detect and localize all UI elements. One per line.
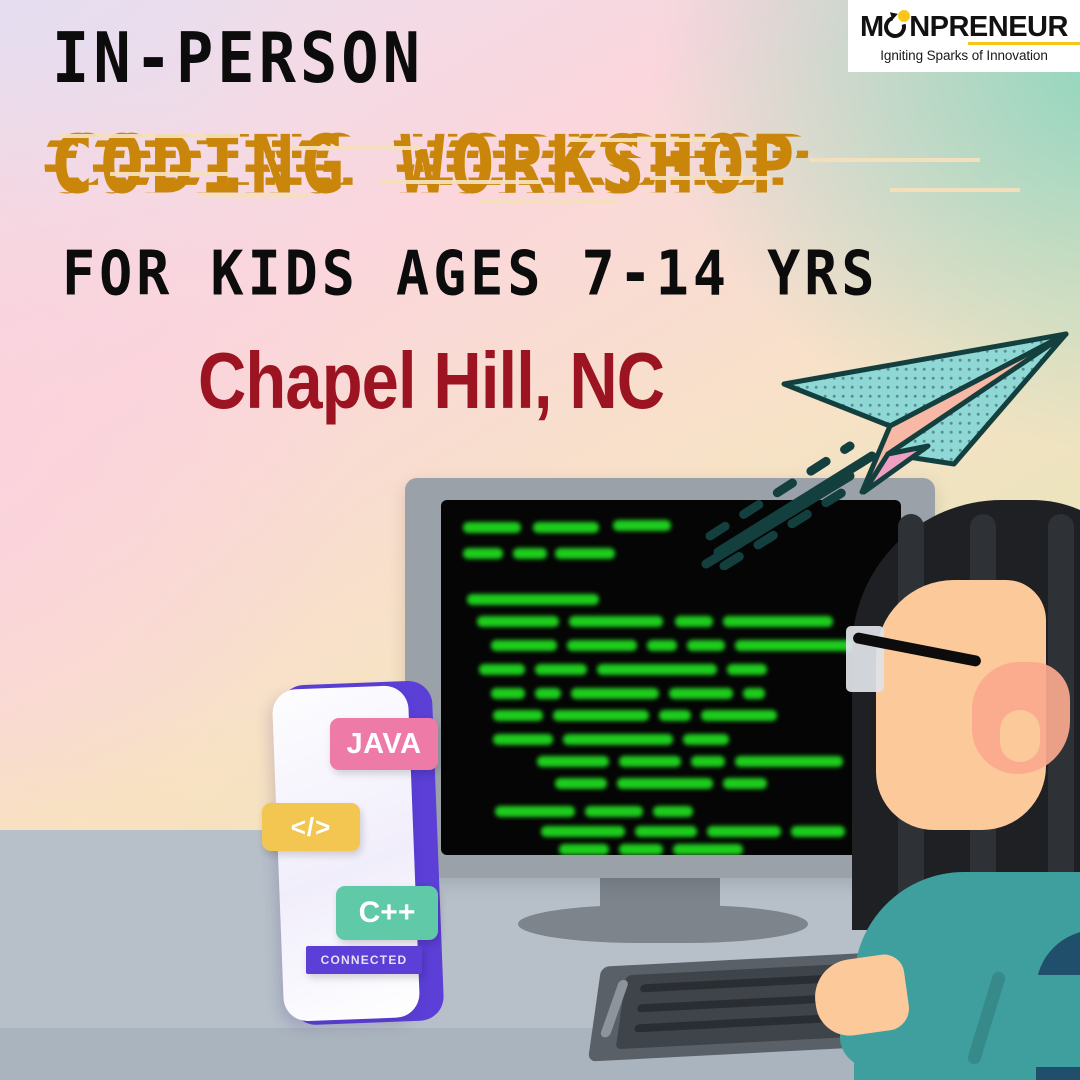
poster-canvas: JAVA </> C++ CONNECTED IN-PERSON CODING …: [0, 0, 1080, 1080]
paper-plane-icon: [778, 322, 1078, 522]
badge-java[interactable]: JAVA: [330, 718, 438, 770]
badge-code-brackets[interactable]: </>: [262, 803, 360, 851]
brand-name-part1: M: [860, 11, 883, 43]
monitor-base: [518, 905, 808, 943]
logo-underline: [968, 42, 1080, 45]
eyebrow-text: IN-PERSON: [52, 24, 424, 93]
brand-tagline: Igniting Sparks of Innovation: [880, 48, 1047, 63]
subtitle-text: FOR KIDS AGES 7-14 YRS: [62, 243, 878, 305]
brand-name-part2: NPRENEUR: [909, 11, 1068, 43]
kid-ear: [1000, 710, 1040, 762]
brand-logo[interactable]: M NPRENEUR Igniting Sparks of Innovation: [848, 0, 1080, 72]
moon-arc-icon: [883, 14, 909, 40]
headline-title-glitch: CODING WORKSHOP CODING WORKSHOP CODING W…: [50, 120, 1040, 212]
badge-cpp[interactable]: C++: [336, 886, 438, 940]
badge-connected[interactable]: CONNECTED: [306, 946, 422, 974]
location-text: Chapel Hill, NC: [198, 342, 664, 422]
brand-name: M NPRENEUR: [860, 13, 1068, 42]
